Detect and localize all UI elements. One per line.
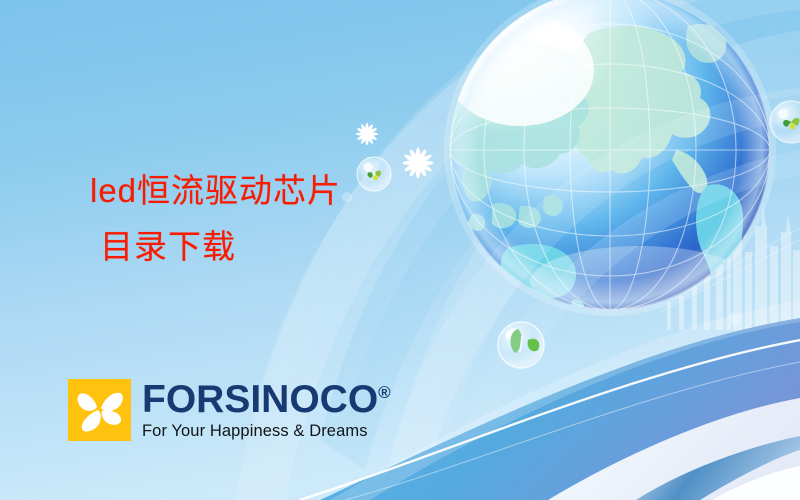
company-logo[interactable]: FORSINOCO® For Your Happiness & Dreams <box>68 379 391 441</box>
brand-tagline: For Your Happiness & Dreams <box>142 421 391 441</box>
headline-line-1: led恒流驱动芯片 <box>72 163 341 219</box>
banner-canvas: led恒流驱动芯片 目录下载 FORSINOCO® For Your Happi… <box>0 0 800 500</box>
brand-name: FORSINOCO® <box>142 380 391 420</box>
headline-line-2: 目录下载 <box>72 219 341 275</box>
logo-text-block: FORSINOCO® For Your Happiness & Dreams <box>142 380 391 441</box>
four-petal-pinwheel-icon <box>68 379 131 441</box>
brand-word: FORSINOCO <box>142 378 378 421</box>
bubble-small <box>729 312 741 324</box>
bubble-pinwheel <box>357 157 391 191</box>
bubble-small <box>342 192 352 202</box>
registered-mark: ® <box>378 383 391 402</box>
promo-headline: led恒流驱动芯片 目录下载 <box>72 163 341 275</box>
logo-mark <box>68 379 131 441</box>
bubble-leaves <box>498 322 544 368</box>
